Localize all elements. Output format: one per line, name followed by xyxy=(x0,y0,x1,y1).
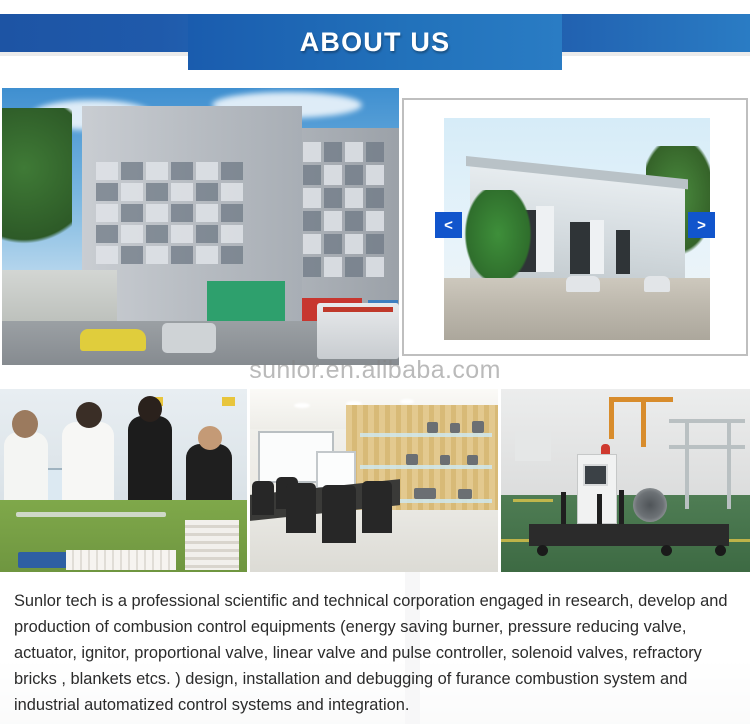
thumbnail-office-staff[interactable] xyxy=(0,389,247,572)
thumb-caster-wheel xyxy=(537,545,548,556)
thumb-product-item xyxy=(414,488,436,499)
thumb-hmi-screen xyxy=(583,464,608,486)
thumb-display-shelf xyxy=(360,433,492,437)
thumb-pipe xyxy=(641,401,646,447)
thumbnail-combustion-equipment[interactable] xyxy=(501,389,750,572)
gallery-top-row: < > sunlor.en.alibaba.com xyxy=(0,88,750,370)
thumb-alarm-lamp xyxy=(601,444,610,454)
slide-door-panel xyxy=(590,220,604,274)
thumb-desk-edge xyxy=(16,512,166,517)
thumbnail-meeting-room[interactable] xyxy=(250,389,497,572)
thumb-wall-tag xyxy=(222,397,235,406)
thumb-frame-leg xyxy=(619,490,624,524)
carousel-slide-factory xyxy=(444,118,710,340)
thumb-caster-wheel xyxy=(715,545,726,556)
thumb-chair xyxy=(252,481,274,515)
photo-storefront-sign xyxy=(207,281,285,323)
watermark-text: sunlor.en.alibaba.com xyxy=(0,356,750,385)
thumb-product-item xyxy=(406,454,418,465)
slide-door-panel xyxy=(536,206,554,272)
thumb-product-item xyxy=(472,421,484,433)
thumb-papers xyxy=(66,550,176,570)
thumb-floor-stripe xyxy=(513,499,553,502)
thumb-frame-leg xyxy=(561,492,566,524)
thumb-product-item xyxy=(440,455,450,465)
thumb-equipment-rack xyxy=(669,419,745,423)
page-title: ABOUT US xyxy=(300,27,451,58)
slide-car xyxy=(644,276,670,292)
photo-car xyxy=(80,329,146,351)
hero-photo-office-building xyxy=(2,88,399,365)
thumb-equipment-rack xyxy=(685,419,689,509)
thumb-skid-base xyxy=(529,524,729,546)
banner-center-block: ABOUT US xyxy=(188,14,562,70)
thumb-pipe xyxy=(609,397,614,439)
slide-car xyxy=(566,276,600,292)
photo-truck xyxy=(317,303,399,359)
image-carousel[interactable]: < > xyxy=(402,98,748,356)
photo-window-grid xyxy=(96,162,243,264)
thumb-person-head xyxy=(12,410,38,438)
thumb-chair xyxy=(286,483,316,533)
thumb-blower-fan xyxy=(633,488,667,522)
carousel-next-button[interactable]: > xyxy=(688,212,715,238)
gallery-thumbnail-row xyxy=(0,389,750,572)
thumb-chair xyxy=(322,485,356,543)
thumb-books xyxy=(185,520,239,570)
company-description: Sunlor tech is a professional scientific… xyxy=(0,582,750,718)
thumb-person-head xyxy=(76,402,102,428)
thumb-side-cabinet xyxy=(515,431,551,461)
slide-banana-plant xyxy=(462,190,534,288)
photo-tree xyxy=(2,108,72,258)
thumb-chair xyxy=(362,481,392,533)
photo-van xyxy=(162,323,216,353)
about-us-page: ABOUT US xyxy=(0,0,750,724)
thumb-display-shelf xyxy=(360,465,492,469)
thumb-frame-leg xyxy=(597,494,602,524)
thumb-tray xyxy=(18,552,68,568)
section-banner: ABOUT US xyxy=(0,0,750,86)
thumb-product-item xyxy=(427,422,438,433)
thumb-product-item xyxy=(450,423,460,433)
slide-door xyxy=(616,230,630,274)
thumb-product-item xyxy=(467,455,478,465)
thumb-product-item xyxy=(458,489,472,499)
carousel-prev-button[interactable]: < xyxy=(435,212,462,238)
thumb-equipment-rack xyxy=(669,445,745,449)
thumb-person-head xyxy=(138,396,162,422)
thumb-person-head xyxy=(198,426,222,450)
thumb-caster-wheel xyxy=(661,545,672,556)
thumb-equipment-rack xyxy=(727,419,731,509)
slide-door xyxy=(570,222,590,274)
